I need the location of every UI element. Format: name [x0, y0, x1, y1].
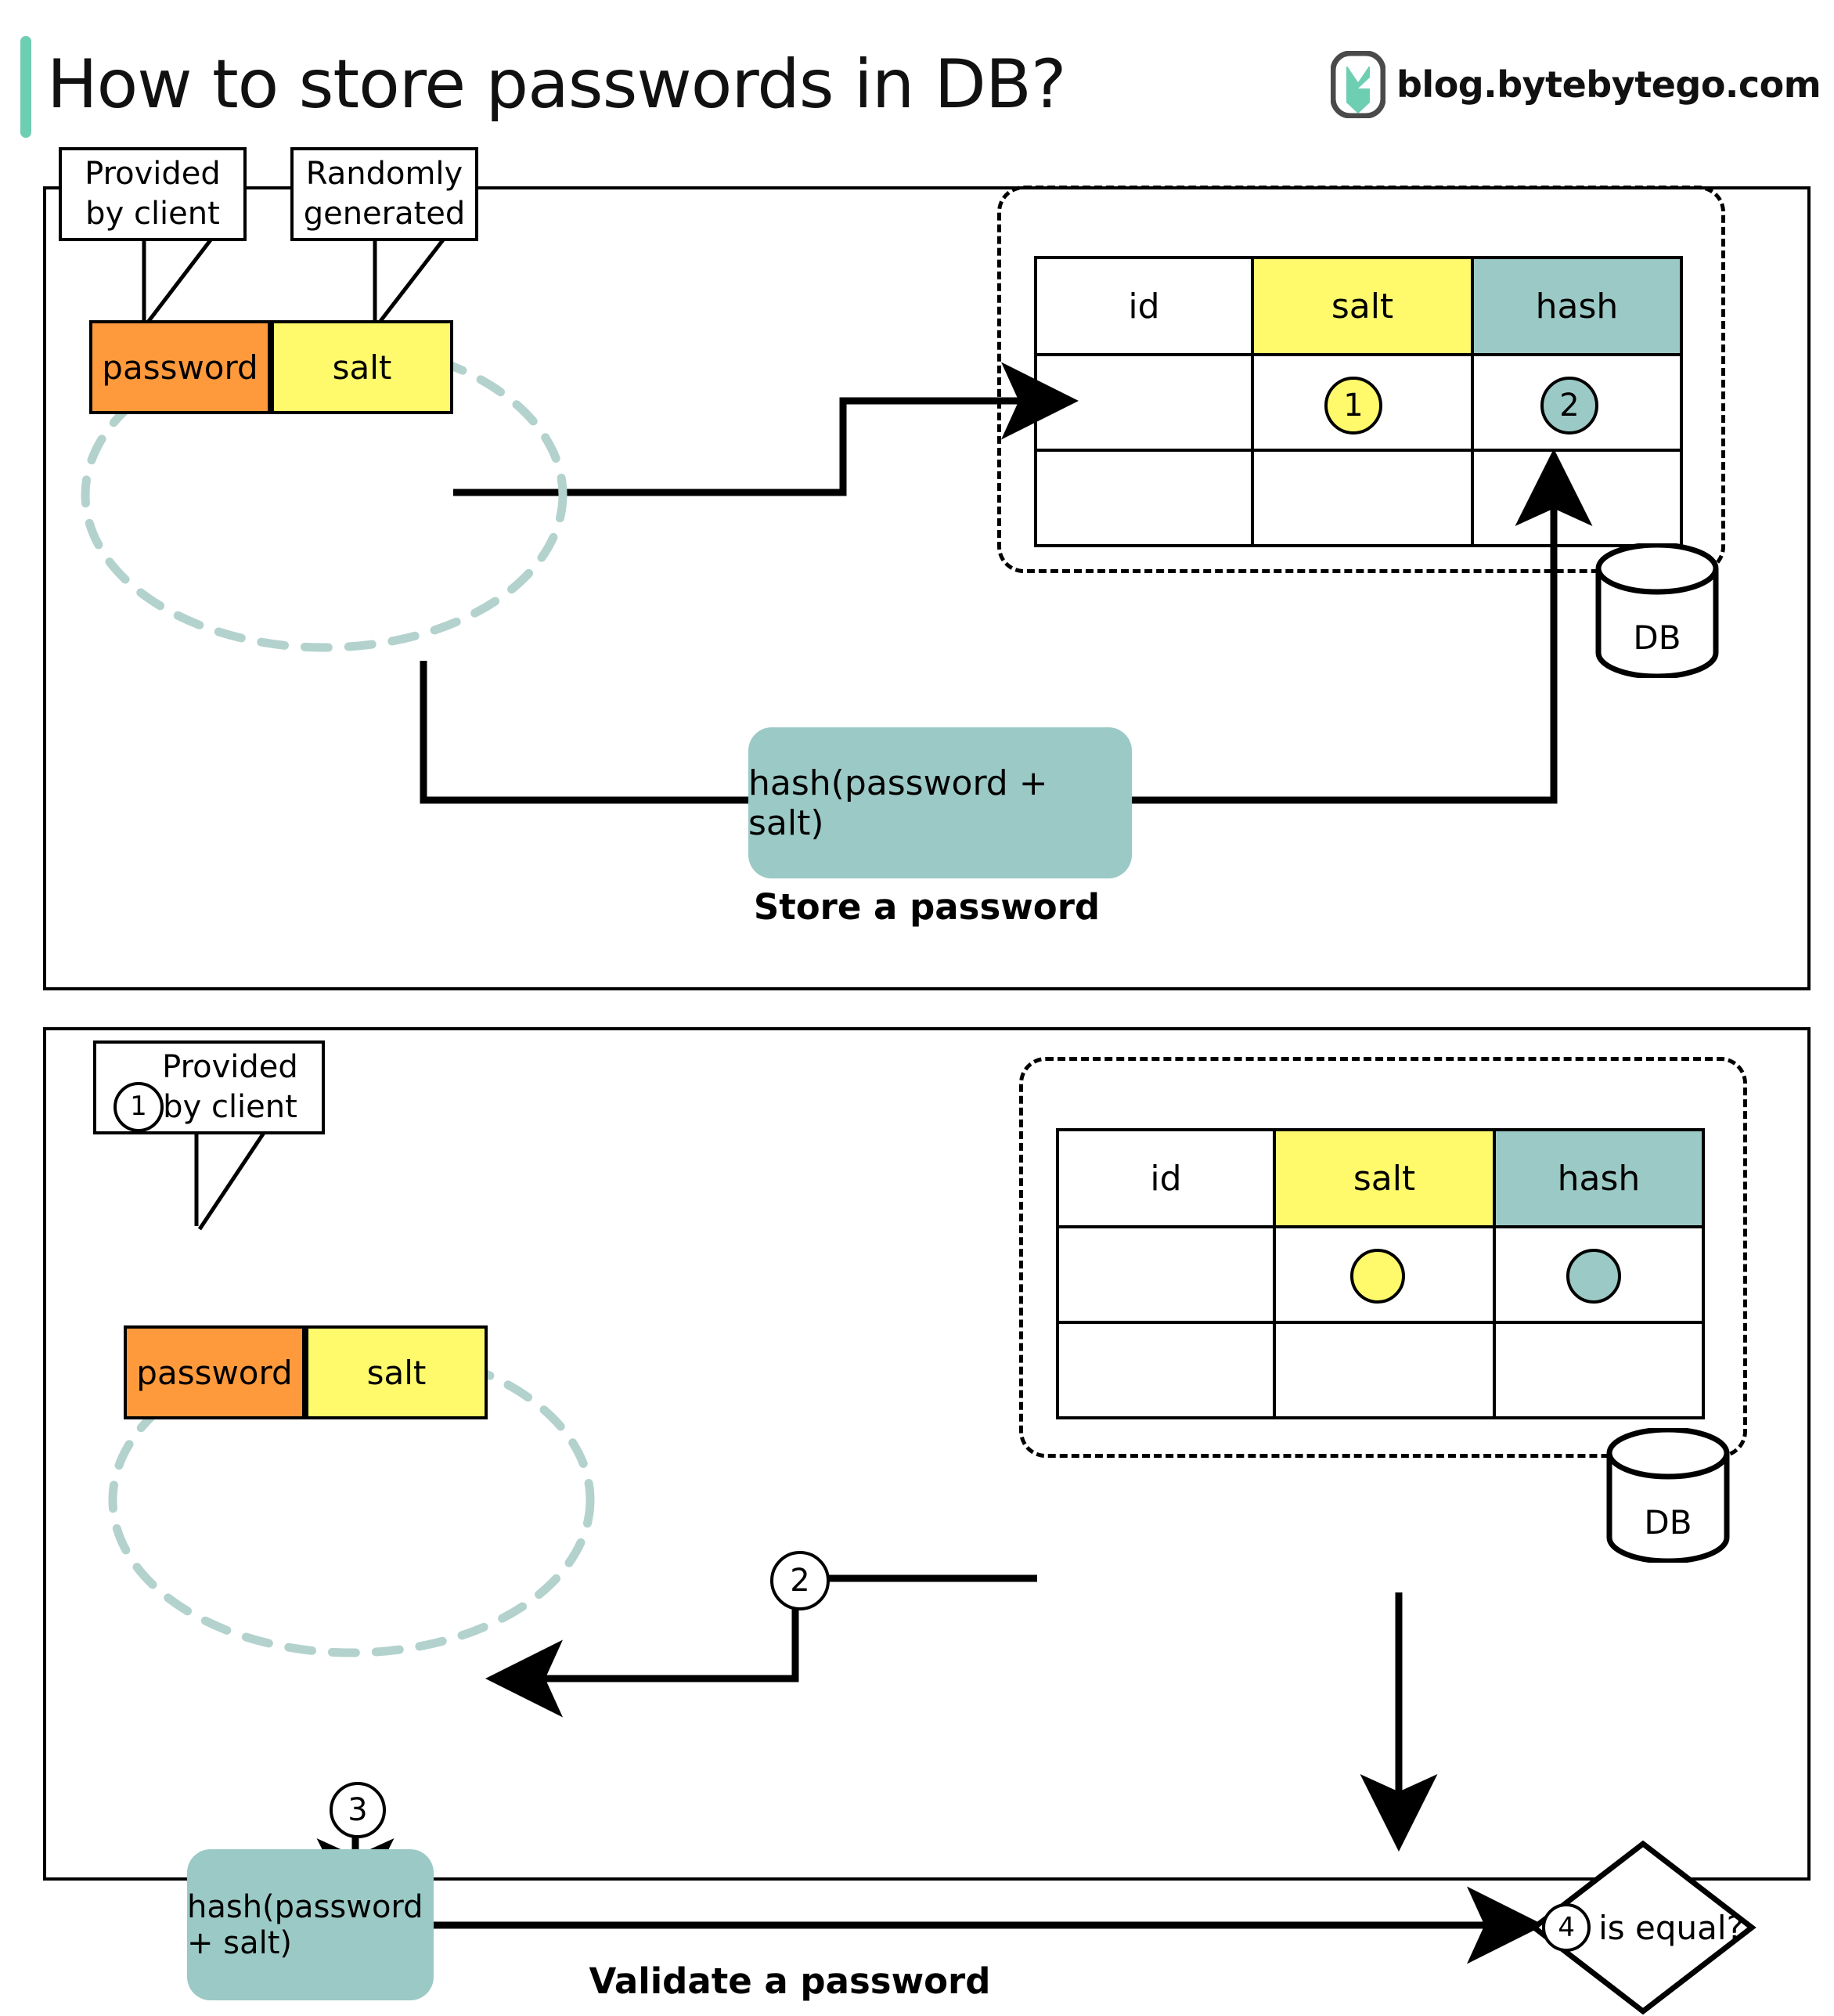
cell-hash	[1494, 1322, 1703, 1418]
cell-id	[1058, 1227, 1274, 1322]
marker-2-hash: 2	[1540, 377, 1598, 435]
callout-randomly-generated: Randomly generated	[290, 147, 478, 241]
step-marker-2: 2	[770, 1551, 830, 1610]
title-accent-bar	[20, 36, 31, 138]
table-row	[1036, 450, 1681, 546]
bytebytego-logo-icon	[1331, 51, 1385, 118]
table-header-id: id	[1058, 1130, 1274, 1227]
marker-1-salt: 1	[1324, 377, 1382, 435]
db-cylinder-label: DB	[1594, 619, 1720, 657]
table-header-hash: hash	[1494, 1130, 1703, 1227]
callout-provided-by-client: Provided by client	[59, 147, 247, 241]
cell-id	[1036, 450, 1252, 546]
page-header: How to store passwords in DB? blog.byteb…	[0, 0, 1834, 180]
hash-value-dot	[1566, 1249, 1621, 1304]
table-row: 1 2	[1036, 355, 1681, 450]
table-header-row: id salt hash	[1036, 258, 1681, 355]
step-marker-1: 1	[113, 1082, 164, 1132]
db-cylinder-label: DB	[1605, 1503, 1731, 1542]
db-table-store: id salt hash 1 2	[1034, 256, 1683, 547]
table-header-salt: salt	[1252, 258, 1472, 355]
cell-salt	[1274, 1322, 1494, 1418]
page-title: How to store passwords in DB?	[47, 30, 1143, 139]
store-a-password-panel: Provided by client Randomly generated pa…	[43, 186, 1811, 990]
callout-provided-by-client-validate: 1 Provided by client	[93, 1040, 325, 1134]
brand-label: blog.bytebytego.com	[1396, 63, 1821, 106]
cell-id	[1036, 355, 1252, 450]
validate-a-password-panel: 1 Provided by client password salt 3 2 h…	[43, 1027, 1811, 1881]
db-cylinder-validate: DB	[1605, 1428, 1731, 1566]
hash-function-box-store: hash(password + salt)	[748, 727, 1132, 878]
chip-password-validate: password	[124, 1325, 305, 1419]
chip-salt: salt	[271, 320, 453, 414]
db-table-validate: id salt hash	[1056, 1128, 1705, 1419]
step-marker-3: 3	[330, 1782, 386, 1838]
cell-salt	[1252, 450, 1472, 546]
cell-hash	[1494, 1227, 1703, 1322]
table-row	[1058, 1322, 1703, 1418]
table-header-salt: salt	[1274, 1130, 1494, 1227]
step-marker-4: 4	[1542, 1903, 1591, 1952]
db-cylinder-store: DB	[1594, 543, 1720, 681]
table-header-hash: hash	[1472, 258, 1681, 355]
chip-password: password	[89, 320, 271, 414]
table-row	[1058, 1227, 1703, 1322]
decision-label: is equal?	[1598, 1909, 1744, 1947]
table-header-row: id salt hash	[1058, 1130, 1703, 1227]
store-panel-caption: Store a password	[46, 886, 1807, 928]
chip-salt-validate: salt	[305, 1325, 488, 1419]
salt-value-dot	[1350, 1249, 1405, 1304]
cell-id	[1058, 1322, 1274, 1418]
cell-salt	[1274, 1227, 1494, 1322]
cell-hash: 2	[1472, 355, 1681, 450]
table-header-id: id	[1036, 258, 1252, 355]
cell-salt: 1	[1252, 355, 1472, 450]
cell-hash	[1472, 450, 1681, 546]
validate-panel-caption: Validate a password	[46, 1960, 1533, 2002]
brand: blog.bytebytego.com	[1331, 45, 1821, 124]
